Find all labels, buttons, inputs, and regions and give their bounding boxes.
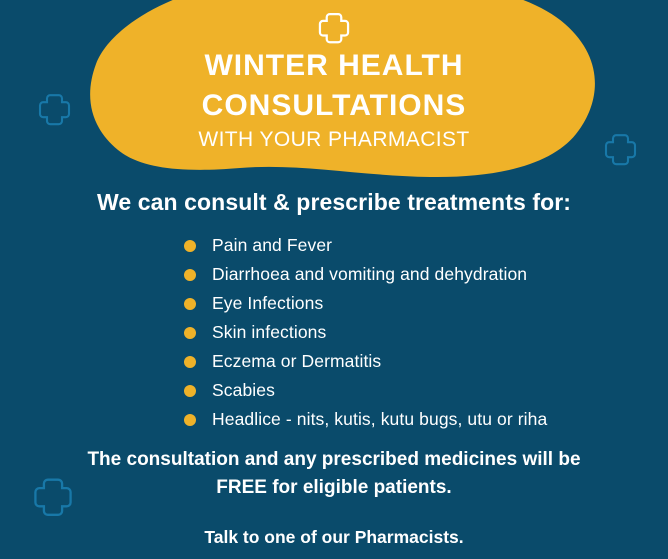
bullet-dot-icon — [184, 414, 196, 426]
hero-subtitle: WITH YOUR PHARMACIST — [198, 127, 469, 152]
list-item: Scabies — [184, 376, 654, 405]
list-item: Eye Infections — [184, 289, 654, 318]
list-item: Skin infections — [184, 318, 654, 347]
footer-messages: The consultation and any prescribed medi… — [0, 446, 668, 548]
footer-primary-message: The consultation and any prescribed medi… — [0, 446, 668, 501]
list-item: Headlice - nits, kutis, kutu bugs, utu o… — [184, 405, 654, 434]
hero-medical-cross-icon — [318, 12, 350, 44]
bullet-dot-icon — [184, 240, 196, 252]
winter-health-consultations-poster: { "colors": { "background": "#0a4b6b", "… — [0, 0, 668, 559]
condition-label: Skin infections — [212, 322, 326, 343]
lead-heading: We can consult & prescribe treatments fo… — [0, 189, 668, 216]
bullet-dot-icon — [184, 269, 196, 281]
condition-label: Diarrhoea and vomiting and dehydration — [212, 264, 527, 285]
bullet-dot-icon — [184, 385, 196, 397]
bullet-dot-icon — [184, 298, 196, 310]
condition-label: Scabies — [212, 380, 275, 401]
bullet-dot-icon — [184, 356, 196, 368]
conditions-list: Pain and Fever Diarrhoea and vomiting an… — [184, 231, 654, 434]
hero-banner: WINTER HEALTH CONSULTATIONS WITH YOUR PH… — [0, 0, 668, 186]
condition-label: Eczema or Dermatitis — [212, 351, 381, 372]
hero-title-line-1: WINTER HEALTH — [202, 46, 467, 86]
condition-label: Headlice - nits, kutis, kutu bugs, utu o… — [212, 409, 547, 430]
footer-secondary-message: Talk to one of our Pharmacists. — [0, 527, 668, 548]
hero-title: WINTER HEALTH CONSULTATIONS — [202, 46, 467, 125]
condition-label: Pain and Fever — [212, 235, 332, 256]
list-item: Diarrhoea and vomiting and dehydration — [184, 260, 654, 289]
hero-title-line-2: CONSULTATIONS — [202, 86, 467, 126]
list-item: Pain and Fever — [184, 231, 654, 260]
list-item: Eczema or Dermatitis — [184, 347, 654, 376]
condition-label: Eye Infections — [212, 293, 323, 314]
bullet-dot-icon — [184, 327, 196, 339]
